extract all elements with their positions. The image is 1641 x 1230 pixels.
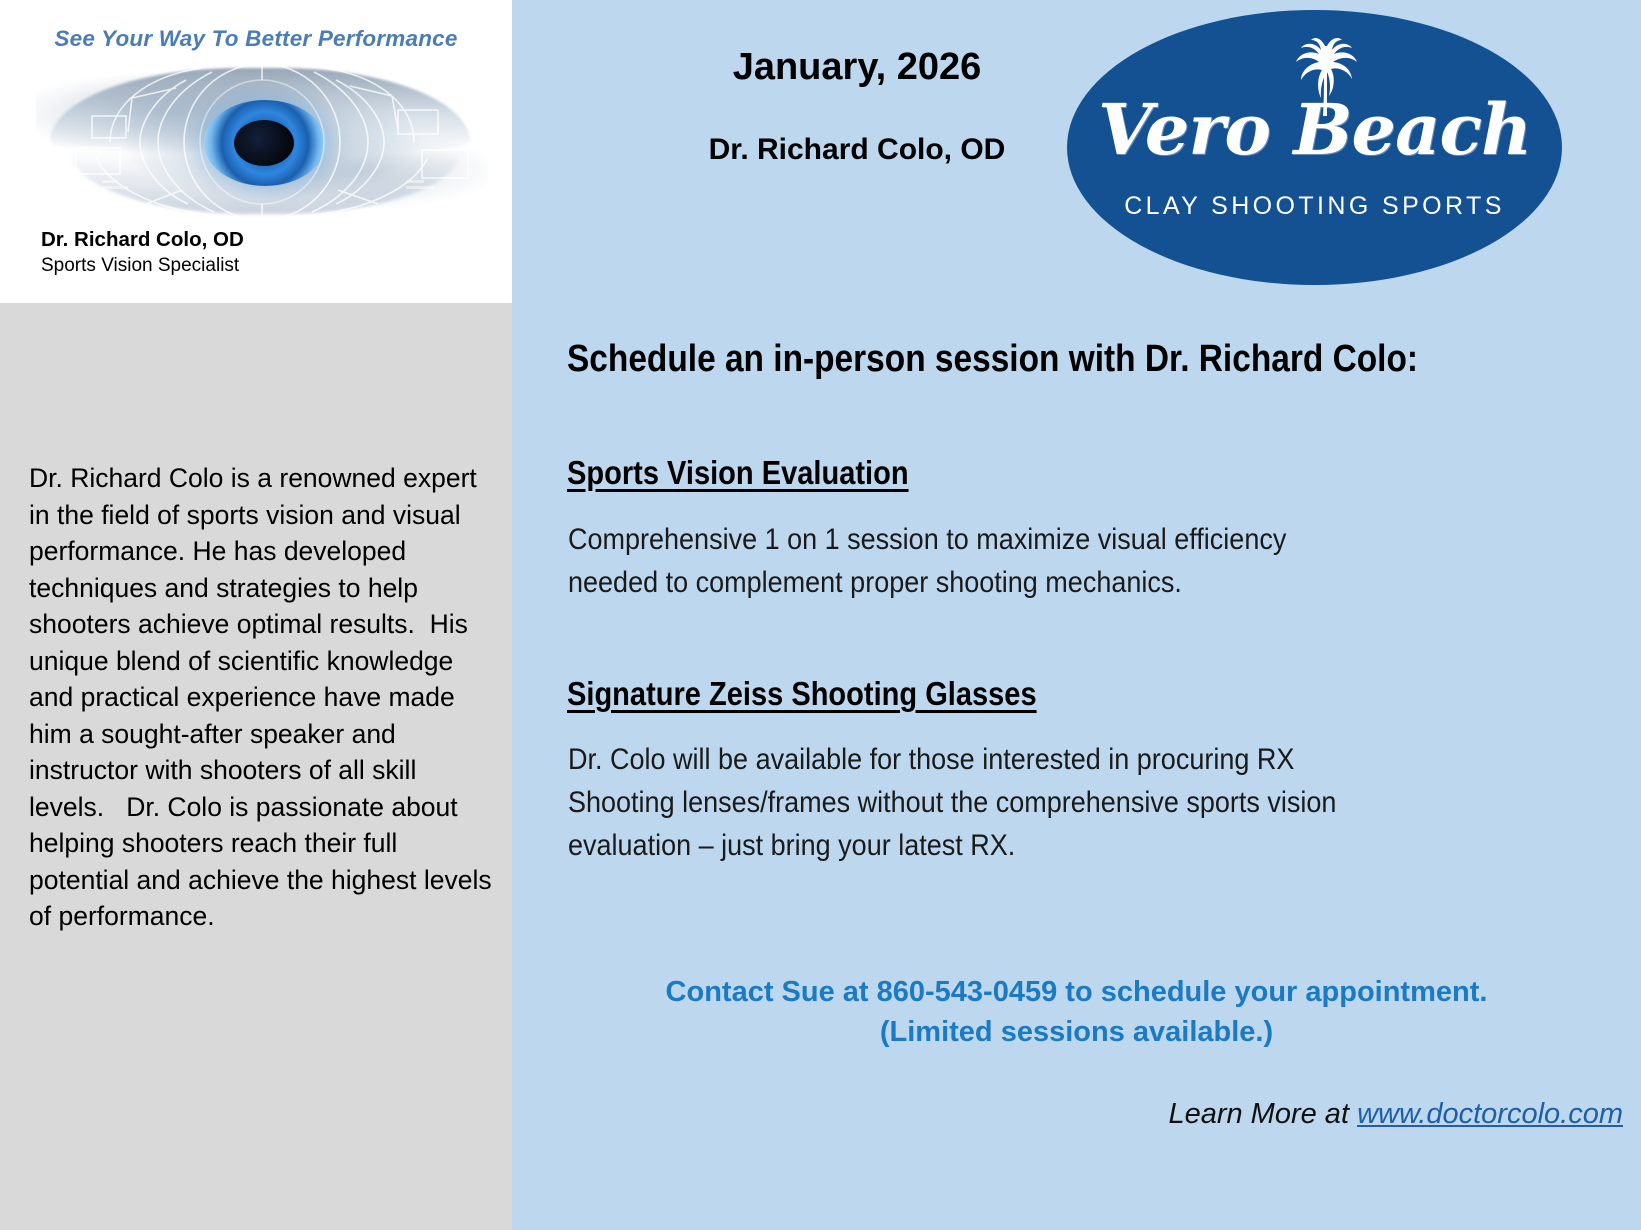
bio-paragraph: Dr. Richard Colo is a renowned expert in… <box>29 460 497 935</box>
doctor-name: Dr. Richard Colo, OD <box>41 228 244 252</box>
vero-beach-logo: Vero Beach CLAY SHOOTING SPORTS <box>1067 10 1562 285</box>
contact-callout: Contact Sue at 860-543-0459 to schedule … <box>512 972 1641 1052</box>
left-sidebar: See Your Way To Better Performance <box>0 0 512 1230</box>
tagline: See Your Way To Better Performance <box>0 26 512 52</box>
logo-subtitle: CLAY SHOOTING SPORTS <box>1067 192 1562 221</box>
section-title-signature-zeiss-shooting-glasses: Signature Zeiss Shooting Glasses <box>567 675 1037 713</box>
section-body-sports-vision-evaluation: Comprehensive 1 on 1 session to maximize… <box>568 518 1576 604</box>
eye-hud-overlay <box>36 62 488 222</box>
section-title-sports-vision-evaluation: Sports Vision Evaluation <box>567 454 909 492</box>
learn-more-prefix: Learn More at <box>1168 1098 1357 1130</box>
main-panel: January, 2026 Dr. Richard Colo, OD Vero … <box>512 0 1641 1230</box>
logo-wordmark: Vero Beach <box>1067 88 1562 171</box>
doctor-role: Sports Vision Specialist <box>41 255 239 277</box>
practice-logo-card: See Your Way To Better Performance <box>0 0 512 303</box>
issue-byline: Dr. Richard Colo, OD <box>592 133 1122 167</box>
newsletter-page: See Your Way To Better Performance <box>0 0 1641 1230</box>
section-body-signature-zeiss-shooting-glasses: Dr. Colo will be available for those int… <box>568 738 1576 867</box>
eye-iris-icon <box>36 62 488 222</box>
website-link[interactable]: www.doctorcolo.com <box>1357 1098 1623 1130</box>
learn-more-line: Learn More at www.doctorcolo.com <box>1168 1098 1623 1131</box>
schedule-heading: Schedule an in-person session with Dr. R… <box>567 338 1418 381</box>
issue-date: January, 2026 <box>592 46 1122 89</box>
